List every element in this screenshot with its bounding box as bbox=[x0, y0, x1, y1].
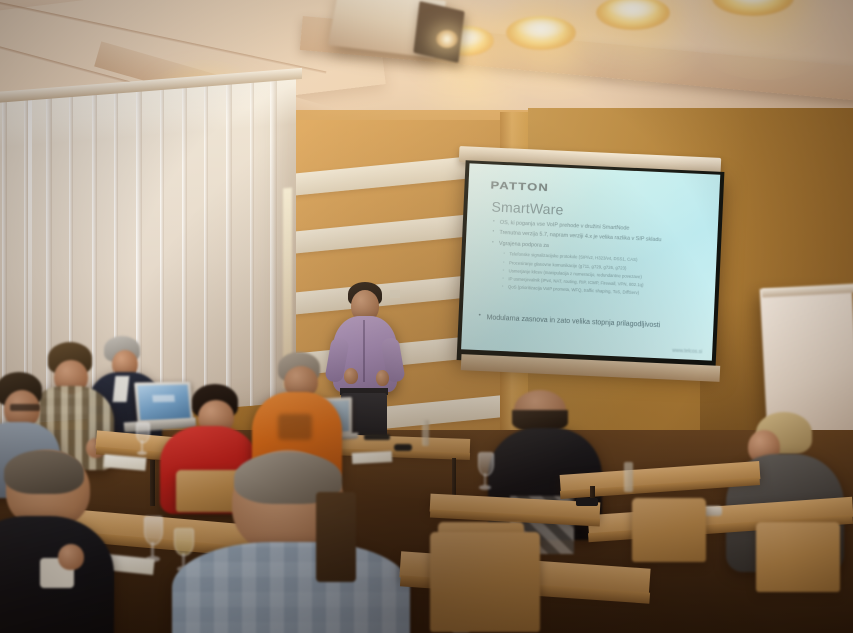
projector-lens bbox=[436, 30, 458, 48]
presenter-hand-left bbox=[344, 368, 358, 384]
presenter-hand-right bbox=[376, 370, 389, 386]
projection-screen-surface: PATTON SmartWare OS, ki poganja vse VoIP… bbox=[461, 163, 720, 360]
attendee-blue-check-shirt bbox=[172, 542, 410, 633]
conference-room-photo: PATTON SmartWare OS, ki poganja vse VoIP… bbox=[0, 0, 853, 633]
eyeglasses bbox=[10, 404, 40, 411]
chair[interactable] bbox=[756, 522, 840, 592]
attendee-dark-sweater bbox=[0, 450, 134, 633]
curtain-fold bbox=[226, 72, 232, 426]
wine-glass[interactable] bbox=[476, 452, 494, 492]
attendee-hair bbox=[4, 450, 84, 494]
attendee-hand bbox=[58, 544, 84, 570]
slide-url: www.telcos.si bbox=[672, 348, 702, 355]
mobile-phone[interactable] bbox=[576, 498, 598, 506]
patton-logo: PATTON bbox=[490, 179, 549, 194]
curtain-fold bbox=[204, 72, 208, 426]
glass-bowl bbox=[136, 422, 150, 443]
glass-bowl bbox=[144, 516, 163, 545]
table-leg bbox=[452, 458, 456, 496]
attendee-blue-check bbox=[180, 450, 410, 633]
chair-shadow bbox=[316, 492, 356, 582]
slide-title: SmartWare bbox=[491, 198, 564, 217]
shirt-placket bbox=[363, 320, 365, 382]
curtain-fold bbox=[182, 72, 187, 426]
wine-glass[interactable] bbox=[134, 422, 150, 456]
shirt-print bbox=[278, 414, 312, 440]
slide-bullet-list: OS, ki poganja vse VoIP prehode v družin… bbox=[490, 220, 705, 302]
projection-screen: PATTON SmartWare OS, ki poganja vse VoIP… bbox=[457, 160, 725, 372]
glass-foot bbox=[137, 451, 147, 455]
water-bottle[interactable] bbox=[624, 462, 633, 492]
table-leg bbox=[150, 460, 155, 506]
chair[interactable] bbox=[632, 498, 706, 562]
glass-foot bbox=[479, 485, 491, 490]
water-bottle[interactable] bbox=[422, 420, 429, 446]
desk-device[interactable] bbox=[364, 434, 390, 440]
glass-bowl bbox=[478, 452, 494, 476]
chair[interactable] bbox=[430, 532, 540, 632]
slide-closing-bullet: Modularna zasnova in zato velika stopnja… bbox=[478, 314, 714, 333]
wine-glass[interactable] bbox=[142, 516, 164, 564]
slide: PATTON SmartWare OS, ki poganja vse VoIP… bbox=[461, 163, 720, 360]
glass-stem bbox=[151, 542, 154, 557]
ceiling-light bbox=[506, 16, 576, 50]
